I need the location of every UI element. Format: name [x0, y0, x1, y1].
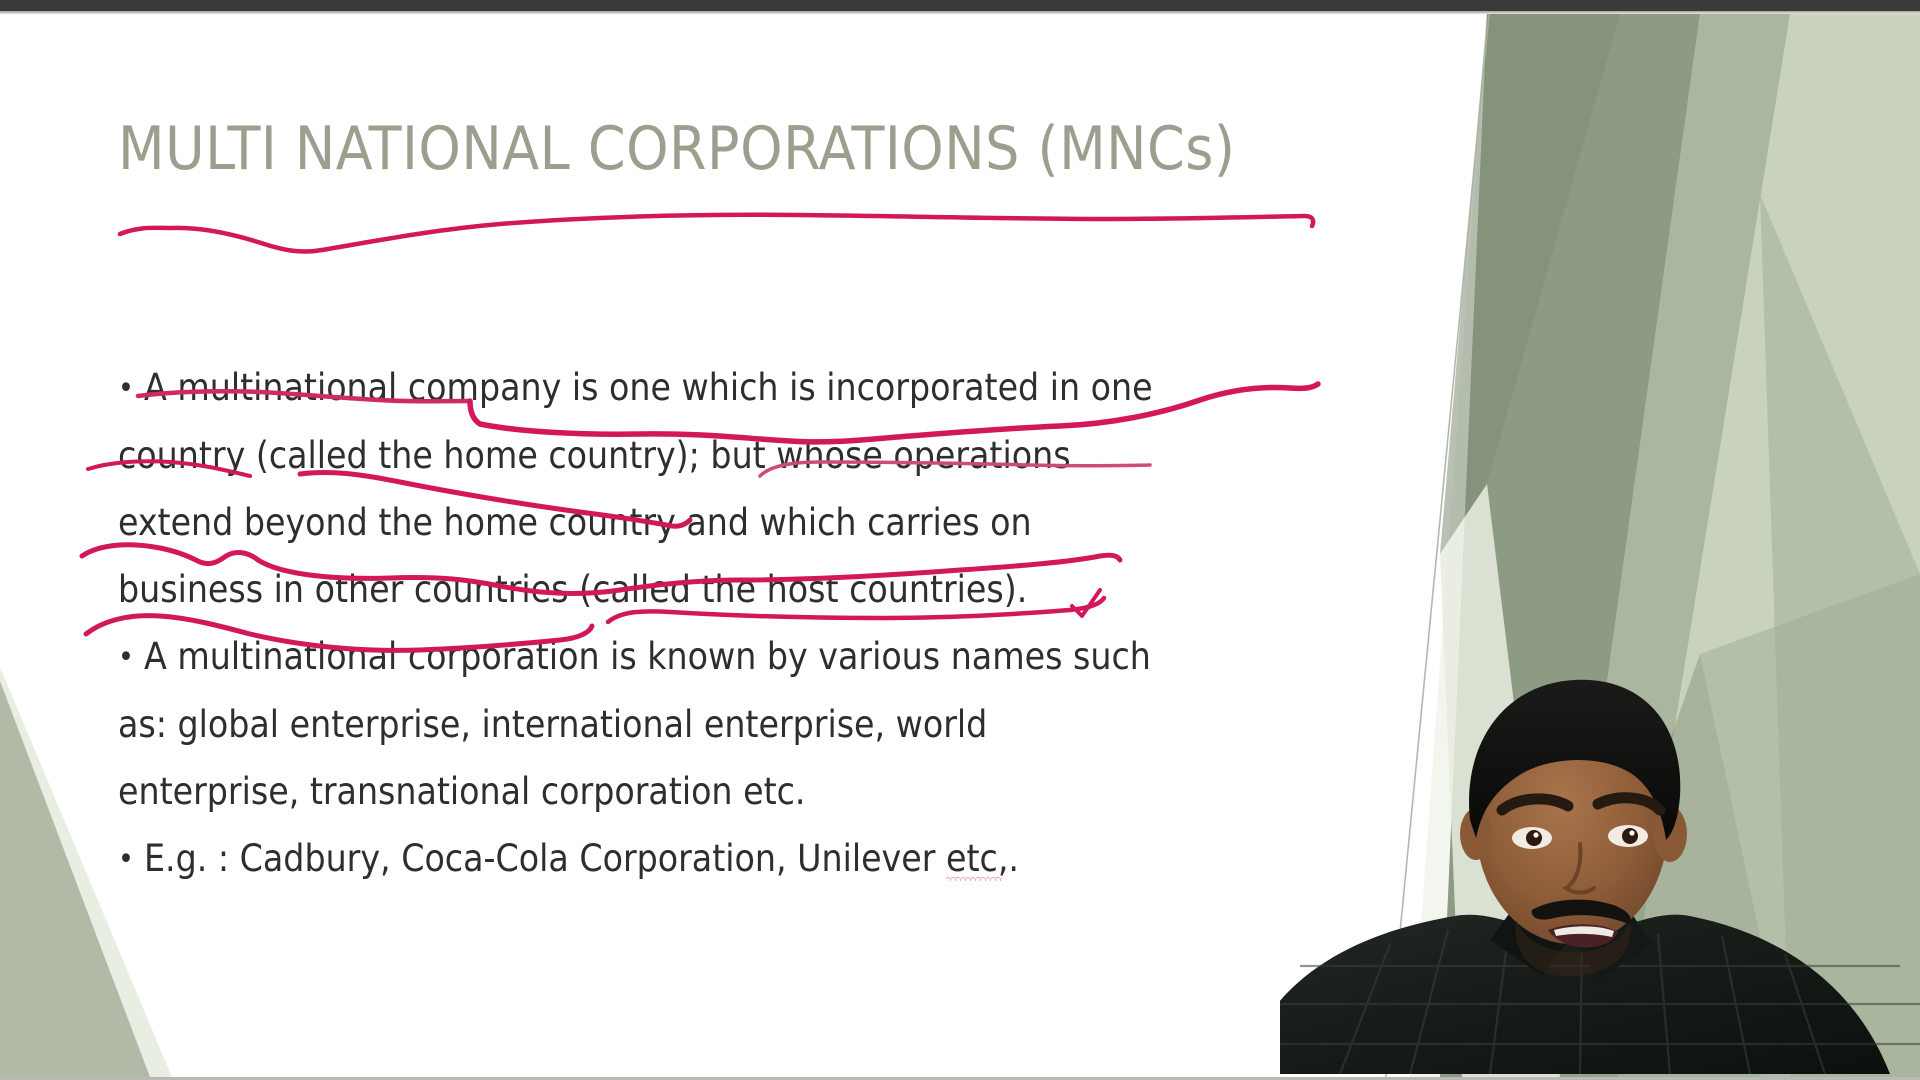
video-top-bar [0, 0, 1920, 11]
presentation-slide: MULTI NATIONAL CORPORATIONS (MNCs) A mul… [0, 14, 1920, 1077]
body-line-7: enterprise, transnational corporation et… [118, 758, 1308, 825]
body-line-5: A multinational corporation is known by … [118, 623, 1308, 691]
video-top-bar-edge [0, 11, 1920, 14]
screen: MULTI NATIONAL CORPORATIONS (MNCs) A mul… [0, 0, 1920, 1080]
body-line-3: extend beyond the home country and which… [118, 489, 1308, 556]
slide-title: MULTI NATIONAL CORPORATIONS (MNCs) [118, 114, 1418, 184]
body-line-1: A multinational company is one which is … [118, 354, 1308, 422]
misspelled-word: etc, [946, 837, 1008, 880]
webcam-overlay[interactable] [1280, 644, 1920, 1074]
body-line-2: country (called the home country); but w… [118, 422, 1308, 489]
webcam-subject [1280, 680, 1920, 1074]
body-line-8-trail: . [1008, 837, 1019, 880]
body-line-4: business in other countries (called the … [118, 556, 1308, 623]
slide-body: A multinational company is one which is … [118, 354, 1308, 893]
body-line-6: as: global enterprise, international ent… [118, 691, 1308, 758]
body-line-8-text: E.g. : Cadbury, Coca-Cola Corporation, U… [144, 837, 946, 880]
body-line-8: E.g. : Cadbury, Coca-Cola Corporation, U… [118, 825, 1308, 893]
